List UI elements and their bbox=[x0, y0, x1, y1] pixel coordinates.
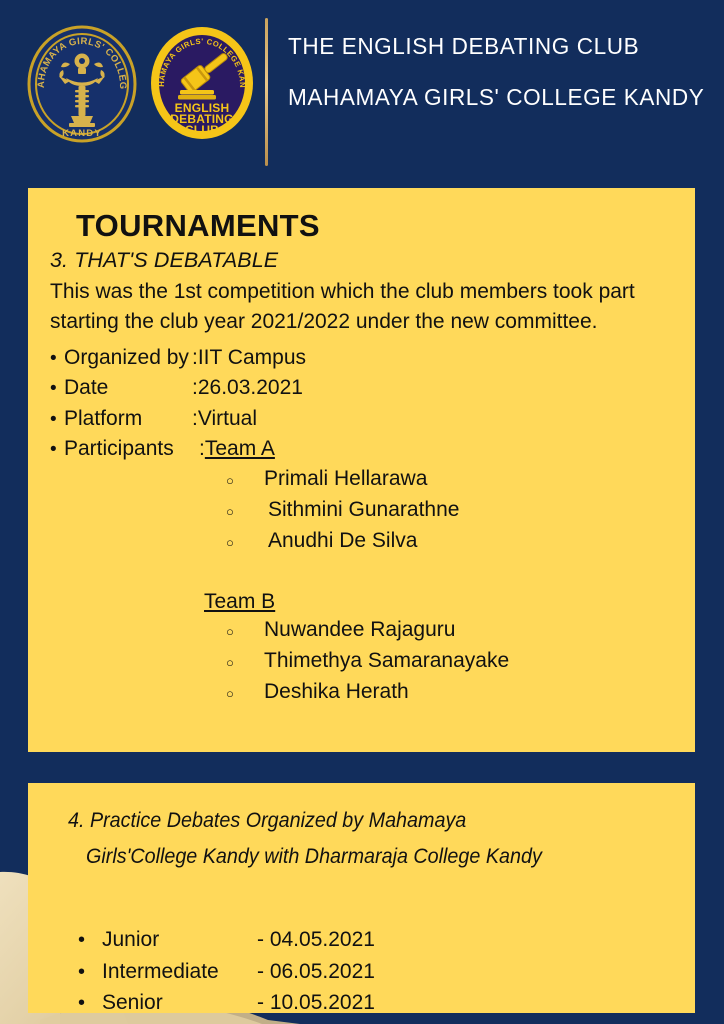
schedule-date: - 10.05.2021 bbox=[257, 987, 375, 1019]
header-title-line-2: MAHAMAYA GIRLS' COLLEGE KANDY bbox=[288, 85, 701, 110]
info-label: Participants bbox=[64, 434, 199, 464]
header-title-line-1: THE ENGLISH DEBATING CLUB bbox=[288, 34, 701, 59]
schedule-label: Junior bbox=[102, 924, 257, 956]
english-debating-club-logo-icon: MAHAMAYA GIRLS' COLLEGE KANDY ENGLISH DE… bbox=[148, 24, 256, 142]
list-item: • Intermediate - 06.05.2021 bbox=[50, 956, 673, 988]
list-item: • Date : 26.03.2021 bbox=[50, 373, 673, 403]
bullet-icon: • bbox=[50, 440, 64, 459]
list-item: • Organized by : IIT Campus bbox=[50, 343, 673, 373]
team-b-title: Team B bbox=[200, 590, 673, 614]
member-name: Primali Hellarawa bbox=[260, 464, 427, 495]
team-b-block: Team B ○ Nuwandee Rajaguru ○ Thimethya S… bbox=[200, 590, 673, 708]
circle-bullet-icon: ○ bbox=[200, 505, 260, 518]
team-b-member-list: ○ Nuwandee Rajaguru ○ Thimethya Samarana… bbox=[200, 615, 673, 708]
schedule-date: - 04.05.2021 bbox=[257, 924, 375, 956]
list-item: ○ Nuwandee Rajaguru bbox=[200, 615, 673, 646]
member-name: Thimethya Samaranayake bbox=[260, 646, 509, 677]
circle-bullet-icon: ○ bbox=[200, 625, 260, 638]
circle-bullet-icon: ○ bbox=[200, 656, 260, 669]
info-value: 26.03.2021 bbox=[198, 373, 303, 403]
practice-schedule-list: • Junior - 04.05.2021 • Intermediate - 0… bbox=[50, 924, 673, 1019]
tournament-description: This was the 1st competition which the c… bbox=[50, 277, 673, 337]
bullet-icon: • bbox=[50, 962, 102, 982]
list-item: ○ Sithmini Gunarathne bbox=[200, 495, 673, 526]
list-item: ○ Thimethya Samaranayake bbox=[200, 646, 673, 677]
bullet-icon: • bbox=[50, 930, 102, 950]
schedule-label: Senior bbox=[102, 987, 257, 1019]
bullet-icon: • bbox=[50, 349, 64, 368]
tournaments-card: TOURNAMENTS 3. THAT'S DEBATABLE This was… bbox=[28, 188, 695, 752]
header-title-group: THE ENGLISH DEBATING CLUB MAHAMAYA GIRLS… bbox=[288, 34, 718, 109]
practice-debates-card: 4. Practice Debates Organized by Mahamay… bbox=[28, 783, 695, 1013]
list-item: ○ Deshika Herath bbox=[200, 677, 673, 708]
crest-bottom-text: KANDY bbox=[62, 128, 102, 139]
bullet-icon: • bbox=[50, 993, 102, 1013]
bullet-icon: • bbox=[50, 410, 64, 429]
info-value-team-a: Team A bbox=[205, 434, 275, 464]
practice-heading-line-1: 4. Practice Debates Organized by Mahamay… bbox=[68, 805, 637, 837]
tournament-info-list: • Organized by : IIT Campus • Date : 26.… bbox=[50, 343, 673, 465]
circle-bullet-icon: ○ bbox=[200, 687, 260, 700]
header-divider bbox=[265, 18, 268, 166]
member-name: Nuwandee Rajaguru bbox=[260, 615, 455, 646]
list-item: • Junior - 04.05.2021 bbox=[50, 924, 673, 956]
list-item: • Platform : Virtual bbox=[50, 404, 673, 434]
member-name: Anudhi De Silva bbox=[260, 526, 417, 557]
info-value: Virtual bbox=[198, 404, 257, 434]
schedule-label: Intermediate bbox=[102, 956, 257, 988]
info-label: Organized by bbox=[64, 343, 192, 373]
tournament-subheading: 3. THAT'S DEBATABLE bbox=[50, 248, 673, 273]
club-logo-line3: CLUB bbox=[185, 123, 219, 137]
list-item: ○ Anudhi De Silva bbox=[200, 526, 673, 557]
schedule-date: - 06.05.2021 bbox=[257, 956, 375, 988]
bullet-icon: • bbox=[50, 379, 64, 398]
info-label: Platform bbox=[64, 404, 192, 434]
info-value: IIT Campus bbox=[198, 343, 306, 373]
list-item: • Participants : Team A bbox=[50, 434, 673, 464]
circle-bullet-icon: ○ bbox=[200, 474, 260, 487]
mahamaya-girls-college-crest-icon: MAHAMAYA GIRLS' COLLEGE bbox=[26, 24, 138, 144]
team-a-block: ○ Primali Hellarawa ○ Sithmini Gunarathn… bbox=[200, 464, 673, 557]
member-name: Deshika Herath bbox=[260, 677, 409, 708]
list-item: ○ Primali Hellarawa bbox=[200, 464, 673, 495]
info-label: Date bbox=[64, 373, 192, 403]
page-title: TOURNAMENTS bbox=[76, 208, 673, 244]
list-item: • Senior - 10.05.2021 bbox=[50, 987, 673, 1019]
poster-header: MAHAMAYA GIRLS' COLLEGE bbox=[0, 0, 724, 180]
member-name: Sithmini Gunarathne bbox=[260, 495, 459, 526]
practice-heading-line-2: Girls'College Kandy with Dharmaraja Coll… bbox=[86, 841, 638, 873]
team-a-member-list: ○ Primali Hellarawa ○ Sithmini Gunarathn… bbox=[200, 464, 673, 557]
circle-bullet-icon: ○ bbox=[200, 536, 260, 549]
poster-page: MAHAMAYA GIRLS' COLLEGE bbox=[0, 0, 724, 1024]
